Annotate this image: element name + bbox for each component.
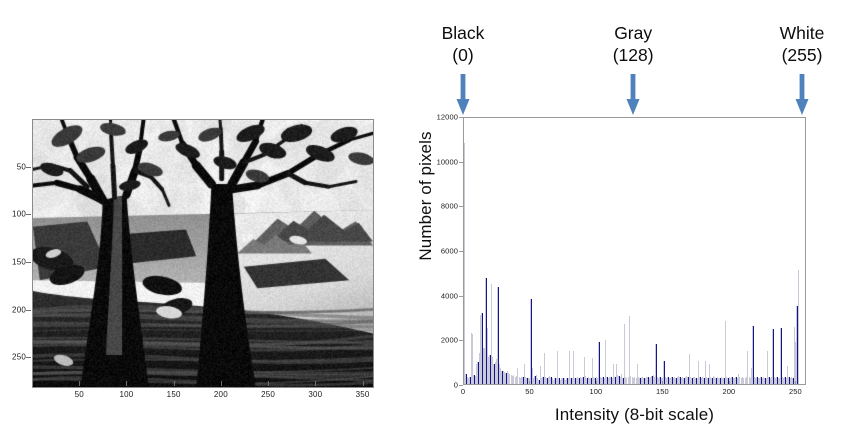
histogram-y-tick-mark [459, 206, 463, 207]
image-x-tick-mark [363, 381, 364, 386]
histogram-bar [752, 326, 753, 384]
histogram-x-tick-mark [529, 381, 530, 385]
image-y-tick-mark [26, 214, 31, 215]
grayscale-tree-painting [33, 120, 373, 387]
image-plot-area [32, 119, 374, 388]
histogram-x-tick-label: 250 [780, 387, 810, 396]
annotation-label: Gray [573, 22, 693, 44]
image-x-tick-mark [221, 381, 222, 386]
annotation-white: White(255) [742, 22, 854, 67]
histogram-x-tick-mark [596, 381, 597, 385]
image-x-tick-label: 250 [253, 390, 283, 399]
annotation-value: (128) [573, 44, 693, 66]
image-y-tick-mark [26, 310, 31, 311]
x-axis-title: Intensity (8-bit scale) [463, 405, 806, 425]
image-x-tick-label: 300 [300, 390, 330, 399]
histogram-bar [780, 328, 781, 384]
image-x-tick-mark [174, 381, 175, 386]
histogram-y-tick-mark [459, 117, 463, 118]
image-y-tick-label: 50 [2, 162, 26, 171]
histogram-x-tick-mark [662, 381, 663, 385]
image-x-tick-mark [126, 381, 127, 386]
image-x-tick-mark [315, 381, 316, 386]
annotation-value: (0) [403, 44, 523, 66]
histogram-y-tick-mark [459, 296, 463, 297]
image-panel: 50100150200250 50100150200250300350 [0, 110, 400, 410]
histogram-bar [725, 321, 726, 384]
image-y-tick-label: 150 [2, 258, 26, 267]
histogram-y-tick-mark [459, 251, 463, 252]
image-x-tick-mark [268, 381, 269, 386]
histogram-bar [772, 329, 773, 384]
histogram-bar [464, 143, 465, 384]
histogram-y-tick-mark [459, 385, 463, 386]
image-x-tick-label: 350 [348, 390, 378, 399]
annotation-gray: Gray(128) [573, 22, 693, 67]
annotation-label: White [742, 22, 854, 44]
image-y-tick-mark [26, 262, 31, 263]
y-axis-title: Number of pixels [416, 96, 436, 296]
image-y-tick-label: 200 [2, 305, 26, 314]
down-arrow-icon [795, 74, 809, 116]
histogram-bars [464, 118, 805, 384]
image-x-tick-mark [79, 381, 80, 386]
image-x-tick-label: 150 [159, 390, 189, 399]
histogram-x-tick-label: 0 [448, 387, 478, 396]
annotation-label: Black [403, 22, 523, 44]
histogram-y-tick-label: 2000 [424, 336, 458, 345]
image-x-tick-label: 50 [64, 390, 94, 399]
histogram-bar [624, 324, 625, 384]
image-x-tick-label: 100 [111, 390, 141, 399]
histogram-x-tick-label: 150 [647, 387, 677, 396]
histogram-x-tick-label: 200 [714, 387, 744, 396]
image-x-tick-label: 200 [206, 390, 236, 399]
image-y-tick-label: 100 [2, 210, 26, 219]
histogram-bar [798, 270, 799, 384]
annotation-value: (255) [742, 44, 854, 66]
histogram-y-tick-mark [459, 162, 463, 163]
image-y-tick-mark [26, 357, 31, 358]
image-y-tick-label: 250 [2, 353, 26, 362]
down-arrow-icon [456, 74, 470, 116]
annotation-black: Black(0) [403, 22, 523, 67]
histogram-x-tick-label: 100 [581, 387, 611, 396]
image-y-tick-mark [26, 167, 31, 168]
histogram-y-tick-mark [459, 340, 463, 341]
down-arrow-icon [626, 74, 640, 116]
histogram-x-tick-mark [729, 381, 730, 385]
histogram-plot-area [463, 117, 806, 385]
histogram-x-tick-mark [795, 381, 796, 385]
histogram-bar [629, 316, 630, 384]
histogram-x-tick-mark [463, 381, 464, 385]
histogram-x-tick-label: 50 [514, 387, 544, 396]
histogram-panel: Black(0)Gray(128)White(255) 020004000600… [388, 0, 854, 446]
